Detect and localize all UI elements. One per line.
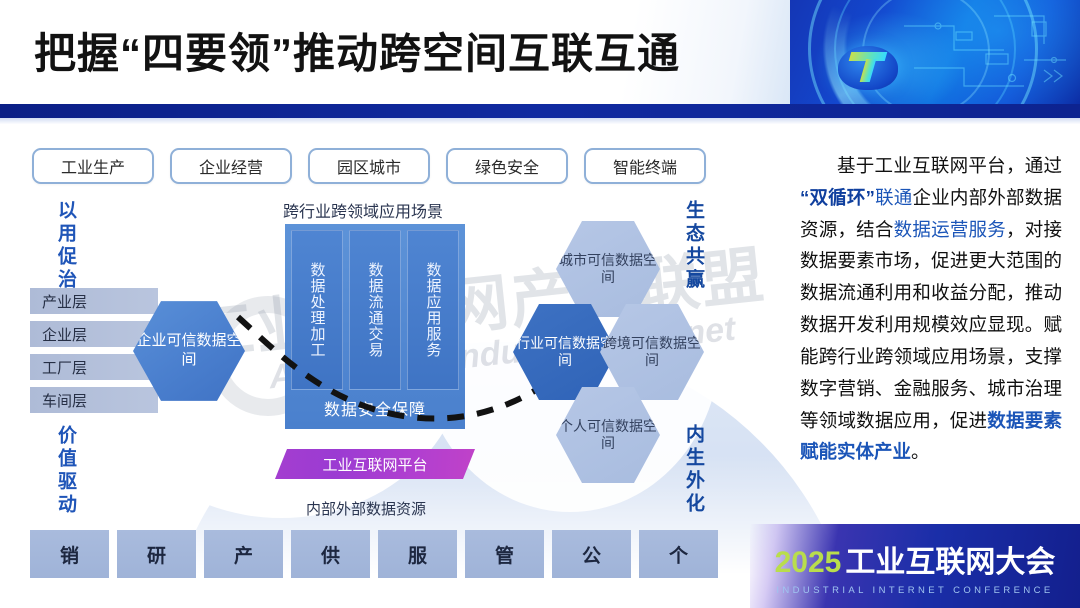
data-resource-label: 内部外部数据资源	[306, 498, 426, 519]
chain-cell-research[interactable]: 研	[117, 530, 196, 578]
chain-cell-sales[interactable]: 销	[30, 530, 109, 578]
chain-cell-service[interactable]: 服	[378, 530, 457, 578]
para-highlight-connect: 联通	[875, 187, 913, 208]
cross-industry-scene-title: 跨行业跨领域应用场景	[283, 198, 443, 222]
conference-logo-band: 2025 工业互联网大会 INDUSTRIAL INTERNET CONFERE…	[750, 524, 1080, 608]
logo-year: 2025	[775, 546, 842, 580]
para-highlight-data-ops: 数据运营服务	[894, 219, 1006, 240]
logo-name-en: INDUSTRIAL INTERNET CONFERENCE	[776, 585, 1053, 596]
scenario-pill-row: 工业生产 企业经营 园区城市 绿色安全 智能终端	[32, 148, 706, 184]
page-title: 把握“四要领”推动跨空间互联互通	[34, 20, 680, 81]
para-seg-4: ，对接数据要素市场，促进更大范围的数据流通利用和收益分配，推动数据开发利用规模效…	[800, 219, 1062, 431]
value-chain-row: 销 研 产 供 服 管 公 个	[30, 530, 718, 578]
conference-logo-main: 2025 工业互联网大会	[775, 537, 1056, 581]
chain-cell-public[interactable]: 公	[552, 530, 631, 578]
para-seg-5: 。	[911, 441, 930, 462]
right-vertical-label-top: 生态共赢	[680, 200, 707, 292]
logo-name-cn: 工业互联网大会	[845, 537, 1055, 581]
description-paragraph: 基于工业互联网平台，通过“双循环”联通企业内部外部数据资源，结合数据运营服务，对…	[800, 150, 1062, 468]
chain-cell-produce[interactable]: 产	[204, 530, 283, 578]
pill-enterprise-operation[interactable]: 企业经营	[170, 148, 292, 184]
para-seg-1: 基于工业互联网平台，通过	[837, 155, 1062, 176]
tech-globe-graphic-icon	[790, 0, 1080, 104]
pill-smart-terminal[interactable]: 智能终端	[584, 148, 706, 184]
layer-bar-industry[interactable]: 产业层	[30, 288, 158, 314]
slide-root: 把握“四要领”推动跨空间互联互通 工业互联网产业联盟 Alliance of I…	[0, 0, 1080, 608]
pill-park-city[interactable]: 园区城市	[308, 148, 430, 184]
para-highlight-dual-circulation: “双循环”	[800, 187, 875, 208]
right-vertical-label-bottom: 内生外化	[680, 424, 707, 516]
slide-header: 把握“四要领”推动跨空间互联互通	[0, 0, 1080, 104]
chain-cell-personal[interactable]: 个	[639, 530, 718, 578]
circuit-lines-icon	[894, 8, 1074, 100]
header-stripe	[0, 104, 1080, 118]
chain-cell-manage[interactable]: 管	[465, 530, 544, 578]
conference-t-logo-icon	[850, 52, 886, 82]
pill-green-safety[interactable]: 绿色安全	[446, 148, 568, 184]
chain-cell-supply[interactable]: 供	[291, 530, 370, 578]
layer-bar-workshop[interactable]: 车间层	[30, 387, 158, 413]
left-vertical-label-bottom: 价值驱动	[52, 425, 79, 517]
pill-industrial-production[interactable]: 工业生产	[32, 148, 154, 184]
left-vertical-label-top: 以用促治	[52, 200, 79, 292]
